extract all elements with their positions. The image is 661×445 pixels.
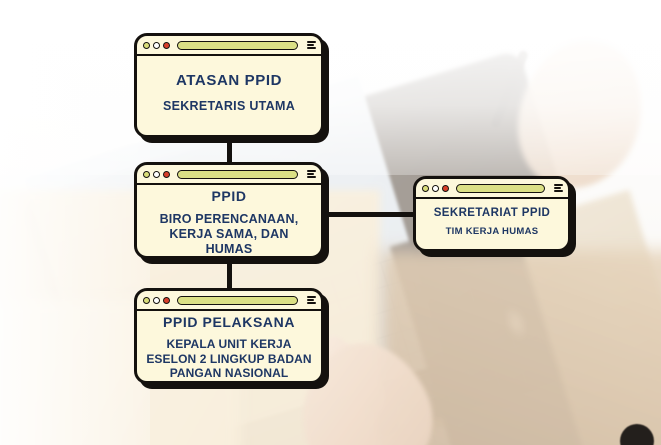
node-sekretariat-ppid[interactable]: SEKRETARIAT PPID TIM KERJA HUMAS (413, 176, 571, 252)
maximize-dot-icon[interactable] (153, 297, 160, 304)
window-titlebar (416, 179, 568, 199)
connector-ppid-to-sekretariat (322, 212, 418, 217)
address-bar[interactable] (177, 170, 298, 179)
node-title: SEKRETARIAT PPID (434, 207, 551, 220)
node-title: ATASAN PPID (176, 73, 282, 90)
node-title: PPID PELAKSANA (163, 315, 295, 330)
node-subtitle-line-1: KEPALA UNIT KERJA (166, 337, 291, 351)
maximize-dot-icon[interactable] (153, 42, 160, 49)
node-ppid[interactable]: PPID BIRO PERENCANAAN, KERJA SAMA, DAN H… (134, 162, 324, 259)
maximize-dot-icon[interactable] (153, 171, 160, 178)
minimize-dot-icon[interactable] (143, 171, 150, 178)
close-dot-icon[interactable] (163, 297, 170, 304)
org-chart-canvas: ATASAN PPID SEKRETARIS UTAMA PPID BIRO P… (0, 0, 661, 445)
background-wash-left (0, 0, 150, 445)
node-atasan-ppid[interactable]: ATASAN PPID SEKRETARIS UTAMA (134, 33, 324, 138)
node-subtitle: TIM KERJA HUMAS (446, 226, 539, 237)
hamburger-icon[interactable] (307, 41, 316, 49)
node-body: ATASAN PPID SEKRETARIS UTAMA (137, 56, 321, 135)
hamburger-icon[interactable] (307, 296, 316, 304)
node-subtitle-line-1: BIRO PERENCANAAN, (160, 212, 299, 227)
close-dot-icon[interactable] (163, 42, 170, 49)
minimize-dot-icon[interactable] (143, 297, 150, 304)
window-titlebar (137, 165, 321, 185)
node-subtitle: SEKRETARIS UTAMA (163, 99, 295, 114)
node-body: PPID BIRO PERENCANAAN, KERJA SAMA, DAN H… (137, 185, 321, 265)
hamburger-icon[interactable] (554, 184, 563, 192)
node-body: SEKRETARIAT PPID TIM KERJA HUMAS (416, 199, 568, 249)
window-titlebar (137, 291, 321, 311)
window-titlebar (137, 36, 321, 56)
node-subtitle-line-3: PANGAN NASIONAL (170, 366, 289, 380)
hamburger-icon[interactable] (307, 170, 316, 178)
close-dot-icon[interactable] (442, 185, 449, 192)
maximize-dot-icon[interactable] (432, 185, 439, 192)
address-bar[interactable] (456, 184, 545, 193)
node-subtitle-line-2: ESELON 2 LINGKUP BADAN (146, 352, 311, 366)
minimize-dot-icon[interactable] (143, 42, 150, 49)
node-ppid-pelaksana[interactable]: PPID PELAKSANA KEPALA UNIT KERJA ESELON … (134, 288, 324, 384)
close-dot-icon[interactable] (163, 171, 170, 178)
node-subtitle-line-2: KERJA SAMA, DAN HUMAS (145, 227, 313, 257)
address-bar[interactable] (177, 296, 298, 305)
address-bar[interactable] (177, 41, 298, 50)
minimize-dot-icon[interactable] (422, 185, 429, 192)
node-body: PPID PELAKSANA KEPALA UNIT KERJA ESELON … (137, 311, 321, 388)
node-title: PPID (211, 189, 246, 204)
